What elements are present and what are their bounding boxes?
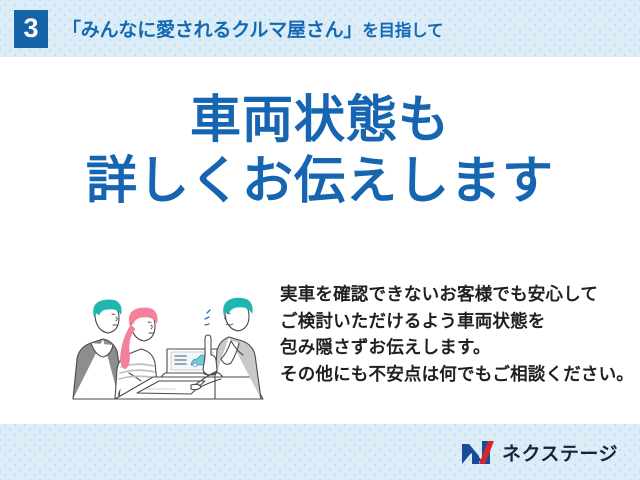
- banner-header: 3 「みんなに愛されるクルマ屋さん」を目指して: [0, 0, 640, 57]
- content-panel: 車両状態も 詳しくお伝えします: [0, 57, 640, 424]
- description-line-4: その他にも不安点は何でもご相談ください。: [280, 361, 634, 388]
- header-title: 「みんなに愛されるクルマ屋さん」を目指して: [62, 15, 443, 42]
- description-line-3: 包み隠さずお伝えします。: [280, 334, 634, 361]
- nextage-n-logo-icon: [461, 440, 495, 465]
- headline: 車両状態も 詳しくお伝えします: [0, 91, 640, 209]
- lower-content: 実車を確認できないお客様でも安心して ご検討いただけるよう車両状態を 包み隠さず…: [0, 275, 640, 410]
- header-title-tail: を目指して: [362, 22, 443, 40]
- headline-line-1: 車両状態も: [0, 91, 640, 148]
- description-text: 実車を確認できないお客様でも安心して ご検討いただけるよう車両状態を 包み隠さず…: [280, 281, 634, 387]
- consultation-illustration: [55, 281, 270, 401]
- headline-line-2: 詳しくお伝えします: [0, 152, 640, 209]
- banner-footer: ネクステージ: [0, 424, 640, 480]
- header-title-quoted: 「みんなに愛されるクルマ屋さん」: [62, 20, 362, 41]
- description-line-1: 実車を確認できないお客様でも安心して: [280, 281, 634, 308]
- promo-banner: 3 「みんなに愛されるクルマ屋さん」を目指して 車両状態も 詳しくお伝えします: [0, 0, 640, 480]
- section-number-badge: 3: [14, 10, 48, 48]
- brand-logo-text: ネクステージ: [502, 439, 618, 466]
- brand-logo: ネクステージ: [461, 439, 618, 466]
- description-line-2: ご検討いただけるよう車両状態を: [280, 308, 634, 335]
